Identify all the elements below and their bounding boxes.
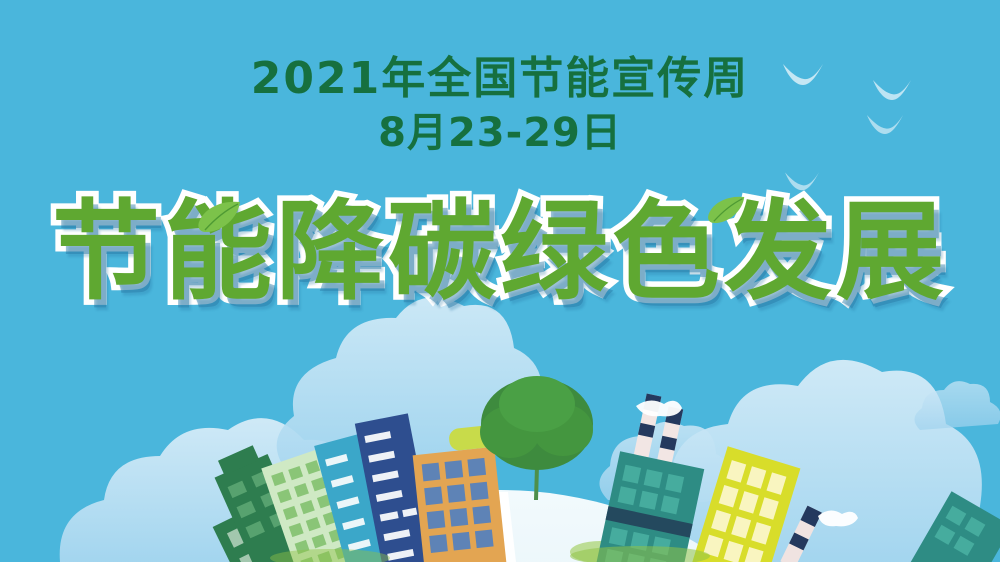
poster-canvas: 2021年全国节能宣传周 8月23-29日 节能降碳绿色发展 xyxy=(0,0,1000,562)
header-title-line2: 8月23-29日 xyxy=(0,109,1000,157)
header-title-line1: 2021年全国节能宣传周 xyxy=(0,54,1000,103)
header-text-block: 2021年全国节能宣传周 8月23-29日 xyxy=(0,54,1000,157)
slogan-part2: 绿色发展 xyxy=(500,196,948,309)
slogan-part1: 节能降碳 xyxy=(52,196,500,309)
slogan-block: 节能降碳绿色发展 xyxy=(0,196,1000,326)
